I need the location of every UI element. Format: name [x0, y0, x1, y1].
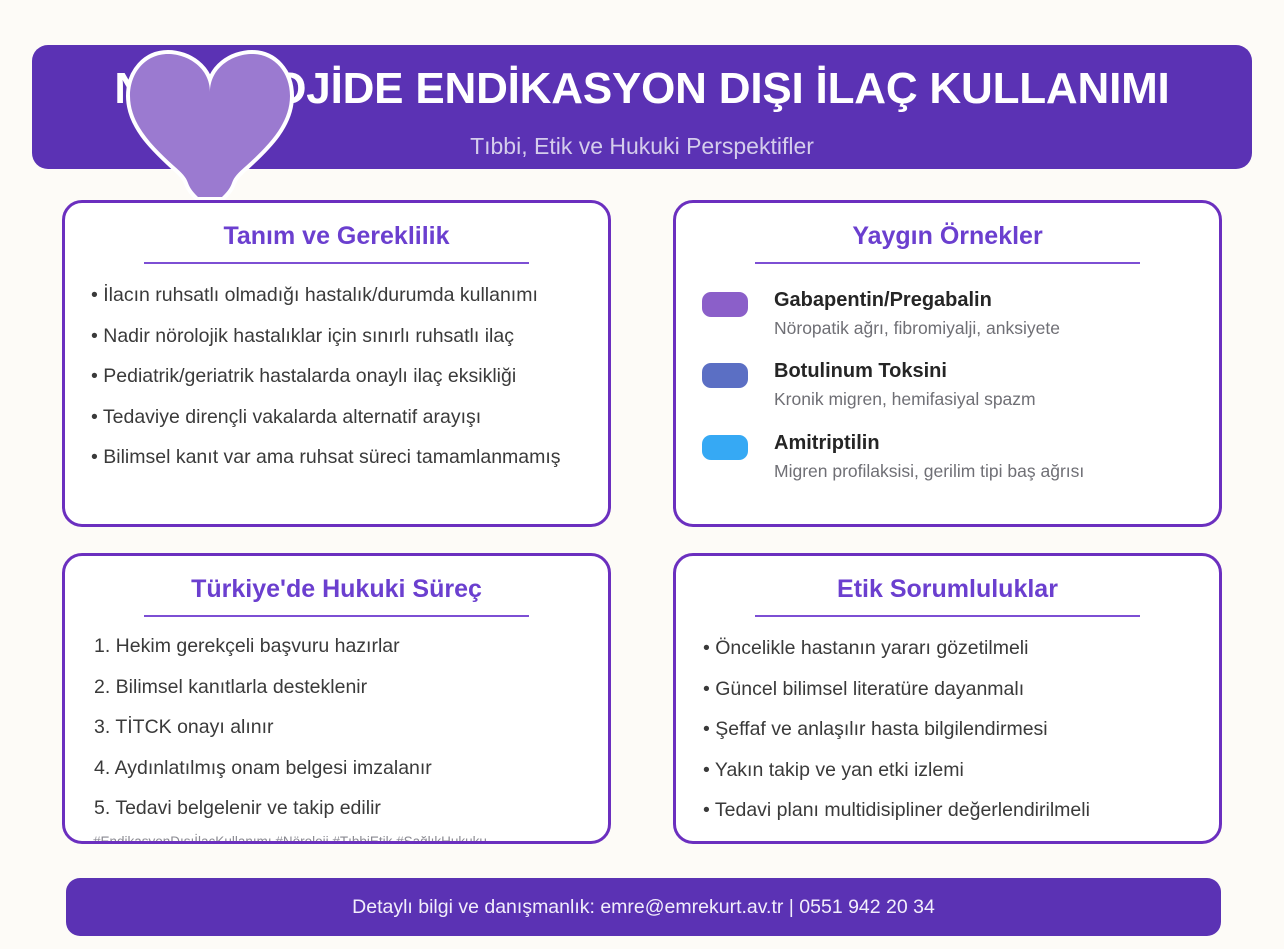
- legend-item-name: Gabapentin/Pregabalin: [774, 289, 992, 311]
- card-tanim-ve-gereklilik: Tanım ve Gereklilik • İlacın ruhsatlı ol…: [62, 200, 611, 527]
- list-item: • Bilimsel kanıt var ama ruhsat süreci t…: [65, 448, 608, 468]
- card-etik-sorumluluklar: Etik Sorumluluklar • Öncelikle hastanın …: [673, 553, 1222, 844]
- list-item: • Güncel bilimsel literatüre dayanmalı: [676, 680, 1219, 700]
- list-item: Botulinum Toksini Kronik migren, hemifas…: [676, 361, 1219, 408]
- list-item: • Öncelikle hastanın yararı gözetilmeli: [676, 639, 1219, 659]
- legend-item-name: Amitriptilin: [774, 432, 880, 454]
- list-item: • Tedaviye dirençli vakalarda alternatif…: [65, 408, 608, 428]
- infographic-page: NÖROLOJİDE ENDİKASYON DIŞI İLAÇ KULLANIM…: [0, 0, 1284, 949]
- list-item: • Tedavi planı multidisipliner değerlend…: [676, 801, 1219, 821]
- list-item: • Şeffaf ve anlaşılır hasta bilgilendirm…: [676, 720, 1219, 740]
- legend-item-description: Nöropatik ağrı, fibromiyalji, anksiyete: [774, 319, 1219, 337]
- list-item: • İlacın ruhsatlı olmadığı hastalık/duru…: [65, 286, 608, 306]
- card-title: Türkiye'de Hukuki Süreç: [65, 575, 608, 604]
- card-title: Tanım ve Gereklilik: [65, 222, 608, 251]
- list-item: • Nadir nörolojik hastalıklar için sınır…: [65, 327, 608, 347]
- hashtags: #EndikasyonDışıİlaçKullanımı #Nöroloji #…: [93, 834, 487, 844]
- list-item: 1. Hekim gerekçeli başvuru hazırlar: [65, 637, 608, 657]
- color-swatch-icon: [702, 292, 748, 317]
- list-item: Amitriptilin Migren profilaksisi, gerili…: [676, 433, 1219, 480]
- color-swatch-icon: [702, 435, 748, 460]
- header-banner: NÖROLOJİDE ENDİKASYON DIŞI İLAÇ KULLANIM…: [32, 45, 1252, 169]
- card-body: • İlacın ruhsatlı olmadığı hastalık/duru…: [65, 264, 608, 468]
- footer-contact-bar: Detaylı bilgi ve danışmanlık: emre@emrek…: [66, 878, 1221, 936]
- legend-item-description: Kronik migren, hemifasiyal spazm: [774, 390, 1219, 408]
- color-swatch-icon: [702, 363, 748, 388]
- list-item: 3. TİTCK onayı alınır: [65, 718, 608, 738]
- list-item: Gabapentin/Pregabalin Nöropatik ağrı, fi…: [676, 290, 1219, 337]
- page-subtitle: Tıbbi, Etik ve Hukuki Perspektifler: [32, 133, 1252, 160]
- list-item: 5. Tedavi belgelenir ve takip edilir: [65, 799, 608, 819]
- list-item: • Yakın takip ve yan etki izlemi: [676, 761, 1219, 781]
- card-title: Etik Sorumluluklar: [676, 575, 1219, 604]
- legend-item-description: Migren profilaksisi, gerilim tipi baş ağ…: [774, 462, 1219, 480]
- footer-contact-text: Detaylı bilgi ve danışmanlık: emre@emrek…: [352, 896, 935, 919]
- legend-list: Gabapentin/Pregabalin Nöropatik ağrı, fi…: [676, 264, 1219, 480]
- legend-item-name: Botulinum Toksini: [774, 360, 947, 382]
- card-body: 1. Hekim gerekçeli başvuru hazırlar 2. B…: [65, 617, 608, 819]
- card-title: Yaygın Örnekler: [676, 222, 1219, 251]
- card-turkiyede-hukuki-surec: Türkiye'de Hukuki Süreç 1. Hekim gerekçe…: [62, 553, 611, 844]
- list-item: 4. Aydınlatılmış onam belgesi imzalanır: [65, 759, 608, 779]
- card-body: • Öncelikle hastanın yararı gözetilmeli …: [676, 617, 1219, 821]
- list-item: • Pediatrik/geriatrik hastalarda onaylı …: [65, 367, 608, 387]
- list-item: 2. Bilimsel kanıtlarla desteklenir: [65, 678, 608, 698]
- page-title: NÖROLOJİDE ENDİKASYON DIŞI İLAÇ KULLANIM…: [32, 67, 1252, 111]
- card-yaygin-ornekler: Yaygın Örnekler Gabapentin/Pregabalin Nö…: [673, 200, 1222, 527]
